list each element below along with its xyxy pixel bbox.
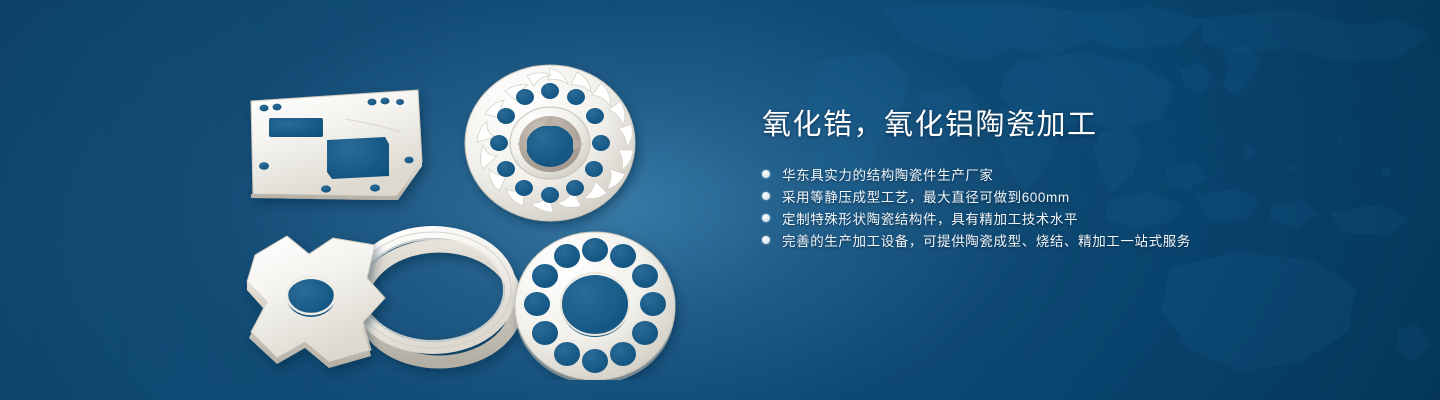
ceramic-products-image <box>225 40 705 380</box>
list-item: 华东具实力的结构陶瓷件生产厂家 <box>762 163 1382 185</box>
list-item: 完善的生产加工设备，可提供陶瓷成型、烧结、精加工一站式服务 <box>762 229 1382 251</box>
list-item: 采用等静压成型工艺，最大直径可做到600mm <box>762 185 1382 207</box>
list-item-label: 华东具实力的结构陶瓷件生产厂家 <box>782 164 994 184</box>
list-item-label: 采用等静压成型工艺，最大直径可做到600mm <box>782 186 1070 206</box>
list-item-label: 定制特殊形状陶瓷结构件，具有精加工技术水平 <box>782 208 1078 228</box>
list-item: 定制特殊形状陶瓷结构件，具有精加工技术水平 <box>762 207 1382 229</box>
ceramic-perforated-disc <box>515 232 675 380</box>
hero-banner: 氧化锆，氧化铝陶瓷加工 华东具实力的结构陶瓷件生产厂家 采用等静压成型工艺，最大… <box>0 0 1440 400</box>
page-title: 氧化锆，氧化铝陶瓷加工 <box>762 107 1382 143</box>
bullet-dot-icon <box>762 236 770 244</box>
ceramic-cross-plate <box>247 236 385 368</box>
ceramic-plate-with-cutouts <box>251 90 422 202</box>
banner-copy: 氧化锆，氧化铝陶瓷加工 华东具实力的结构陶瓷件生产厂家 采用等静压成型工艺，最大… <box>762 107 1382 251</box>
bullet-dot-icon <box>762 192 770 200</box>
list-item-label: 完善的生产加工设备，可提供陶瓷成型、烧结、精加工一站式服务 <box>782 230 1191 250</box>
feature-list: 华东具实力的结构陶瓷件生产厂家 采用等静压成型工艺，最大直径可做到600mm 定… <box>762 163 1382 251</box>
ceramic-impeller-disc <box>465 65 635 221</box>
bullet-dot-icon <box>762 170 770 178</box>
bullet-dot-icon <box>762 214 770 222</box>
